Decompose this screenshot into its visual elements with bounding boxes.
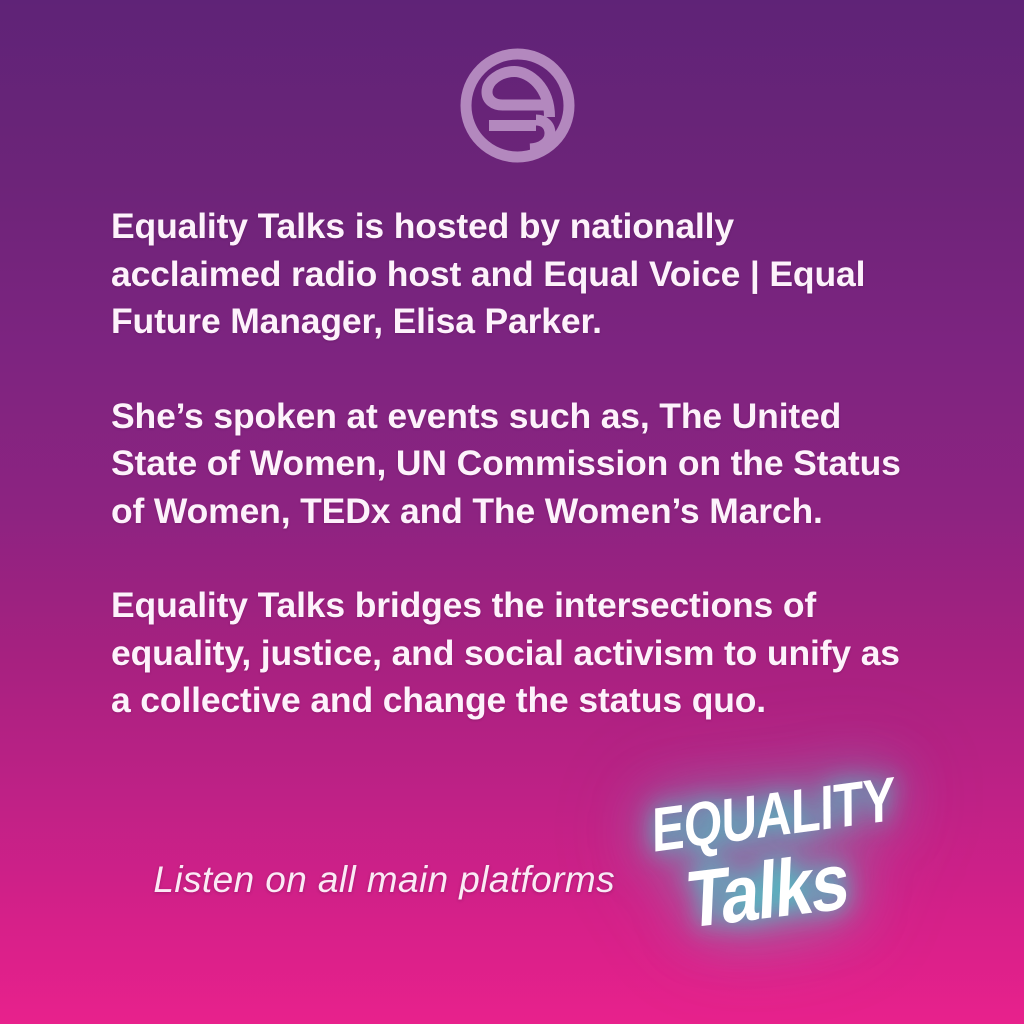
equality-talks-logo-badge: EQUALITY Talks [636, 795, 926, 980]
paragraph-host-intro: Equality Talks is hosted by nationally a… [111, 203, 911, 346]
sound-wave-circle-icon [459, 47, 576, 164]
logo-glow-layer: EQUALITY Talks [636, 795, 926, 980]
paragraph-speaking-events: She’s spoken at events such as, The Unit… [111, 393, 911, 536]
logo-word-talks: Talks [682, 838, 879, 940]
listen-callout: Listen on all main platforms [150, 853, 615, 907]
paragraph-mission: Equality Talks bridges the intersections… [111, 582, 911, 725]
brand-logo-circle [459, 47, 576, 164]
body-copy: Equality Talks is hosted by nationally a… [111, 203, 911, 725]
logo-word-talks-text: Talks [685, 840, 850, 941]
podcast-promo-poster: Equality Talks is hosted by nationally a… [0, 0, 1024, 1024]
